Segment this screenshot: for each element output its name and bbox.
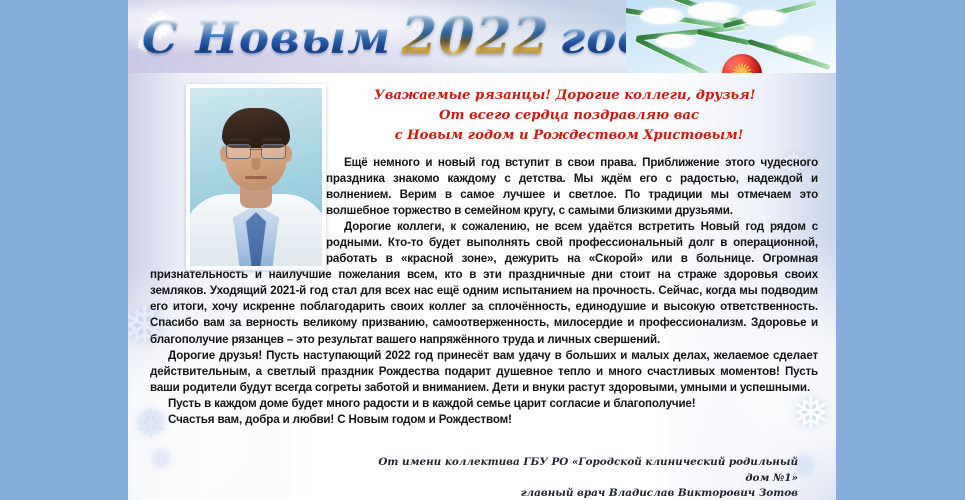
banner-title: С Новым 2022 годом!	[142, 2, 702, 72]
paragraph-3: Дорогие друзья! Пусть наступающий 2022 г…	[150, 348, 818, 396]
greeting-page: ❅ ❅ С Новым 2022 годом!	[0, 0, 965, 500]
headline-line-3: с Новым годом и Рождеством Христовым!	[374, 126, 764, 146]
snowflake-icon: ❅	[150, 446, 172, 472]
headline: Уважаемые рязанцы! Дорогие коллеги, друз…	[374, 86, 764, 146]
snow-cap	[656, 34, 696, 48]
header-banner: ❅ ❅ С Новым 2022 годом!	[128, 0, 836, 73]
snow-cap	[776, 36, 818, 52]
pine-branch-decoration	[626, 0, 836, 73]
signature-name: главный врач Владислав Викторович Зотов	[358, 486, 798, 500]
paragraph-5: Счастья вам, добра и любви! С Новым годо…	[150, 412, 818, 428]
content-panel: ❅ ❅ С Новым 2022 годом!	[128, 0, 836, 500]
photo-text-wrap-spacer	[150, 155, 326, 263]
banner-title-prefix: С Новым	[142, 15, 391, 60]
signature-organization: От имени коллектива ГБУ РО «Городской кл…	[358, 455, 798, 486]
snow-cap	[640, 8, 684, 24]
letter-body: Ещё немного и новый год вступит в свои п…	[150, 155, 818, 428]
hair-shape	[222, 108, 290, 148]
headline-line-1: Уважаемые рязанцы! Дорогие коллеги, друз…	[374, 86, 764, 106]
banner-title-year: 2022	[397, 11, 554, 63]
snow-cap	[742, 10, 788, 26]
headline-line-2: От всего сердца поздравляю вас	[374, 106, 764, 126]
paragraph-4: Пусть в каждом доме будет много радости …	[150, 396, 818, 412]
eyebrow-shape	[230, 138, 250, 141]
snow-cap	[688, 2, 740, 20]
eyebrow-shape	[262, 138, 282, 141]
signature-block: От имени коллектива ГБУ РО «Городской кл…	[358, 455, 798, 500]
